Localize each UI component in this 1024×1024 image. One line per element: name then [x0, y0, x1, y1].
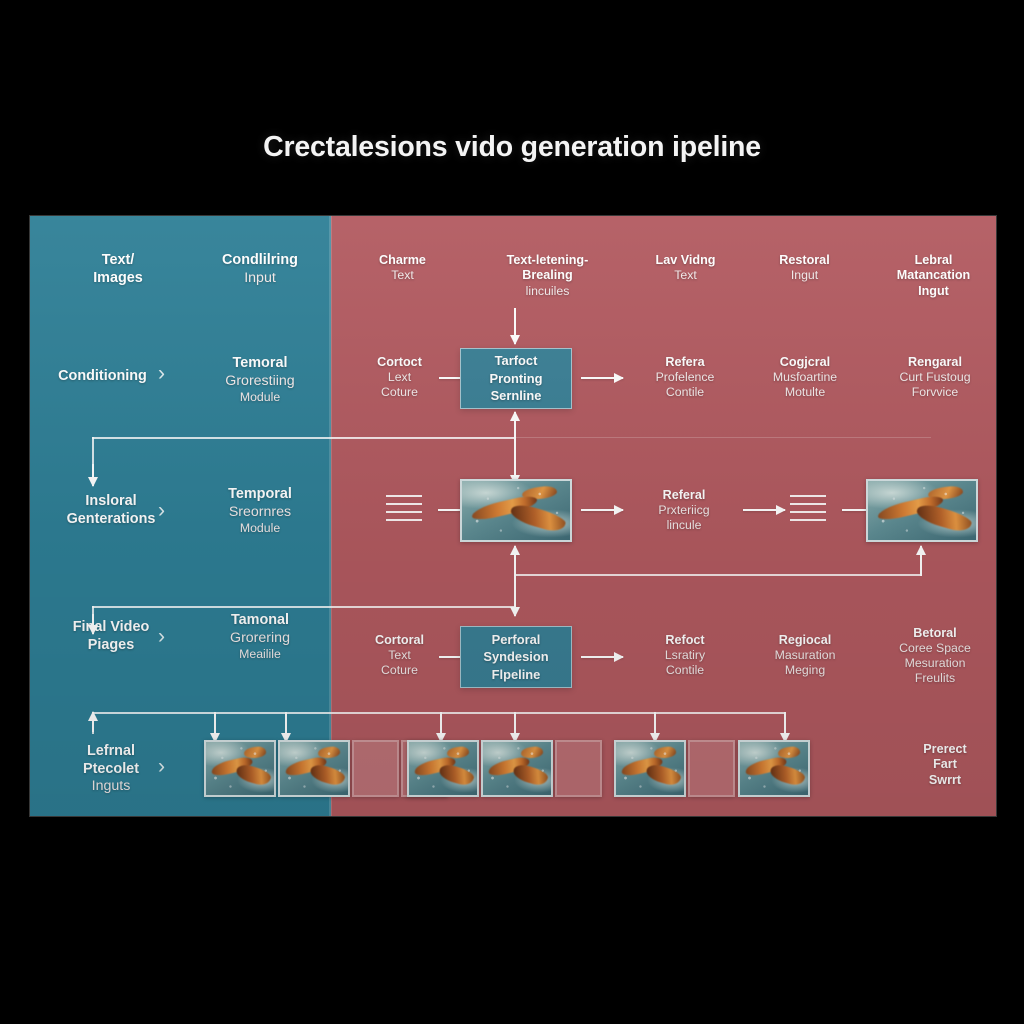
right-cond-label-2: Cogjcral Musfoartine Motulte: [740, 355, 870, 400]
right-syn-label-2: Regiocal Masuration Meging: [740, 633, 870, 678]
arrow-down-icon-left-row3: [92, 464, 94, 486]
filmstrip-frame-6[interactable]: [555, 740, 602, 797]
filmstrip-frame-0[interactable]: [204, 740, 276, 797]
left-module-3: Tamonal Grorering Meailile: [185, 612, 335, 662]
arrow-right-icon-gen-3: [743, 509, 785, 511]
arrow-right-icon-cond-2: [581, 377, 623, 379]
arrow-down-icon-filmstrip-6: [784, 712, 786, 742]
left-module-0: Condlilring Input: [185, 252, 335, 287]
filmstrip-frame-7[interactable]: [614, 740, 686, 797]
arrow-down-icon-filmstrip-3: [440, 712, 442, 742]
screenshot-root: Crectalesions vido generation ipeline Te…: [0, 0, 1024, 1024]
right-header-4: Lebral Matancation Ingut: [866, 253, 996, 299]
right-syn-label-1: Refoct Lsratiry Contile: [625, 633, 745, 678]
right-cond-label-3: Rengaral Curt Fustoug Forvvice: [870, 355, 996, 400]
conditioning-pipeline-box[interactable]: Tarfoct Pronting Sernline: [460, 348, 572, 409]
filmstrip-bus-line: [92, 712, 784, 714]
synthesis-pipeline-box[interactable]: Perforal Syndesion Flpeline: [460, 626, 572, 688]
filmstrip-frame-5[interactable]: [481, 740, 553, 797]
arrow-up-icon-to-conditioning: [514, 412, 516, 448]
arrow-up-icon-gen-feedback: [514, 546, 516, 576]
arrow-down-icon-filmstrip-2: [285, 712, 287, 742]
right-gen-label-0: Referal Prxteriicg lincule: [624, 488, 744, 533]
chevron-right-icon-2: ›: [158, 499, 165, 523]
page-title: Crectalesions vido generation ipeline: [0, 131, 1024, 164]
generation-thumbnail-1[interactable]: [460, 479, 572, 542]
chevron-right-icon-3: ›: [158, 625, 165, 649]
right-cond-label-1: Refera Profelence Contile: [625, 355, 745, 400]
arrow-down-icon-left-row4: [92, 614, 94, 634]
arrow-up-icon-filmstrip-left: [92, 712, 94, 732]
right-header-3: Restoral Ingut: [742, 253, 867, 283]
filmstrip-frame-9[interactable]: [738, 740, 810, 797]
right-header-2: Lav Vidng Text: [623, 253, 748, 283]
arrow-right-icon-syn-2: [581, 656, 623, 658]
filmstrip-label: Prerect Fart Swrrt: [880, 742, 996, 788]
arrow-down-icon-to-conditioning: [514, 308, 516, 344]
right-syn-label-3: Betoral Coree Space Mesuration Freulits: [870, 626, 996, 686]
feedback-line-left-row4: [92, 606, 516, 608]
filmstrip-frame-2[interactable]: [352, 740, 399, 797]
stacked-lines-icon-2: [790, 495, 826, 521]
arrow-down-icon-to-generation: [514, 444, 516, 484]
pipeline-diagram: Text/ Images Condlilring Input Condition…: [30, 216, 996, 816]
arrow-up-icon-gen-feedback-right: [920, 546, 922, 576]
feedback-line-top: [92, 437, 516, 439]
filmstrip-frame-1[interactable]: [278, 740, 350, 797]
left-module-1: Temoral Grorestiing Module: [185, 355, 335, 405]
arrow-down-icon-filmstrip-4: [514, 712, 516, 742]
left-stage-label-0: Text/ Images: [48, 252, 188, 287]
stacked-lines-icon-1: [386, 495, 422, 521]
generation-thumbnail-2[interactable]: [866, 479, 978, 542]
arrow-right-icon-gen-2: [581, 509, 623, 511]
left-stage-label-1: Conditioning: [30, 368, 175, 386]
chevron-right-icon-4: ›: [158, 755, 165, 779]
right-header-1: Text-letening- Brealing lincuiles: [470, 253, 625, 299]
arrow-down-icon-filmstrip-5: [654, 712, 656, 742]
feedback-line-mid: [514, 574, 921, 576]
filmstrip-frame-4[interactable]: [407, 740, 479, 797]
filmstrip-frame-8[interactable]: [688, 740, 735, 797]
arrow-down-icon-filmstrip-1: [214, 712, 216, 742]
arrow-down-icon-to-synthesis: [514, 574, 516, 616]
chevron-right-icon-1: ›: [158, 362, 165, 386]
right-header-0: Charme Text: [340, 253, 465, 283]
left-module-2: Temporal Sreornres Module: [185, 486, 335, 536]
